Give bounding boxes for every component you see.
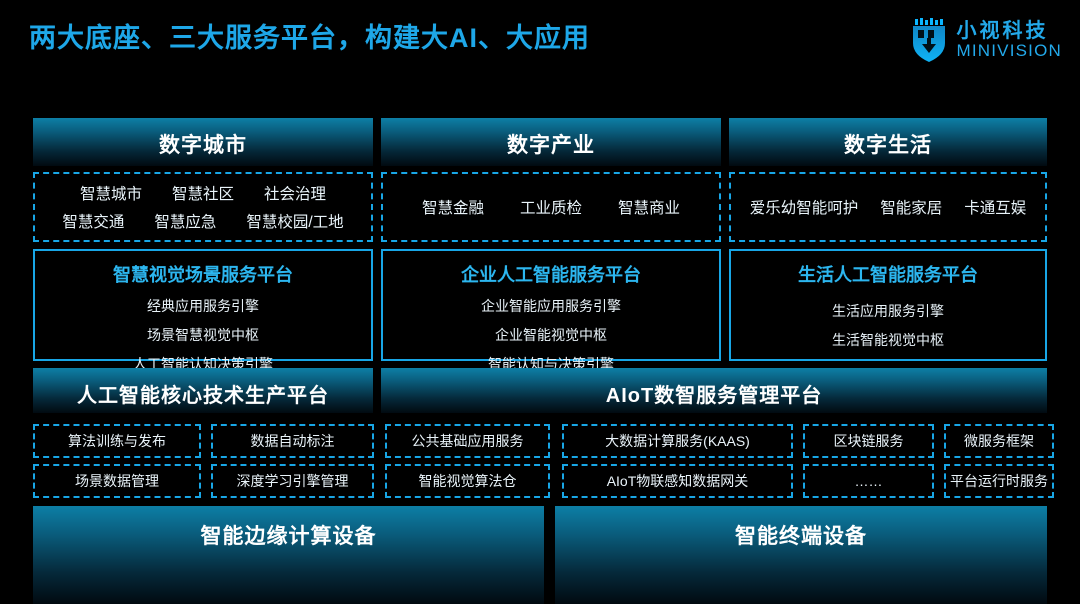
brand-name-en: MINIVISION: [956, 42, 1062, 60]
chip-blockchain-service[interactable]: 区块链服务: [803, 424, 934, 458]
tag-item[interactable]: 智能家居: [880, 196, 942, 218]
platform-item: 生活智能视觉中枢: [731, 330, 1045, 350]
chip-algo-training[interactable]: 算法训练与发布: [33, 424, 201, 458]
tag-item[interactable]: 智慧金融: [422, 196, 484, 218]
platform-item: 场景智慧视觉中枢: [35, 325, 371, 345]
tag-item[interactable]: 智慧社区: [172, 182, 234, 204]
tag-item[interactable]: 社会治理: [264, 182, 326, 204]
tag-group-digital-city: 智慧城市 智慧社区 社会治理 智慧交通 智慧应急 智慧校园/工地: [33, 172, 373, 242]
brand-text: 小视科技 MINIVISION: [956, 21, 1062, 60]
chip-microservice-framework[interactable]: 微服务框架: [944, 424, 1054, 458]
device-card-edge-computing[interactable]: 智能边缘计算设备: [33, 506, 544, 604]
tech-platform-header-ai-core[interactable]: 人工智能核心技术生产平台: [33, 368, 373, 413]
tag-row: 智慧城市 智慧社区 社会治理: [80, 182, 326, 204]
platform-title: 智慧视觉场景服务平台: [35, 261, 371, 287]
chip-deep-learning-engine-management[interactable]: 深度学习引擎管理: [211, 464, 374, 498]
platform-item: 生活应用服务引擎: [731, 301, 1045, 321]
chip-public-basic-service[interactable]: 公共基础应用服务: [385, 424, 550, 458]
platform-item: 经典应用服务引擎: [35, 296, 371, 316]
tag-item[interactable]: 爱乐幼智能呵护: [750, 196, 859, 218]
platform-item: 企业智能视觉中枢: [383, 325, 719, 345]
chip-ellipsis[interactable]: ……: [803, 464, 934, 498]
tech-platform-label: 人工智能核心技术生产平台: [77, 368, 329, 408]
tag-row: 智慧金融 工业质检 智慧商业: [422, 196, 680, 218]
platform-item: 企业智能应用服务引擎: [383, 296, 719, 316]
tag-item[interactable]: 智慧城市: [80, 182, 142, 204]
column-header-digital-industry[interactable]: 数字产业: [381, 118, 721, 166]
tag-group-digital-industry: 智慧金融 工业质检 智慧商业: [381, 172, 721, 242]
tag-item[interactable]: 智慧应急: [154, 210, 216, 232]
platform-card-life-ai[interactable]: 生活人工智能服务平台 生活应用服务引擎 生活智能视觉中枢: [729, 249, 1047, 361]
page-title: 两大底座、三大服务平台，构建大AI、大应用: [29, 16, 590, 55]
tag-item[interactable]: 工业质检: [520, 196, 582, 218]
shield-logo-icon: [912, 17, 946, 63]
brand-logo: 小视科技 MINIVISION: [912, 14, 1062, 66]
platform-card-smart-vision[interactable]: 智慧视觉场景服务平台 经典应用服务引擎 场景智慧视觉中枢 人工智能认知决策引擎: [33, 249, 373, 361]
platform-title: 企业人工智能服务平台: [383, 261, 719, 287]
tag-row: 爱乐幼智能呵护 智能家居 卡通互娱: [750, 196, 1027, 218]
chip-auto-labeling[interactable]: 数据自动标注: [211, 424, 374, 458]
chip-scene-data-management[interactable]: 场景数据管理: [33, 464, 201, 498]
device-card-label: 智能终端设备: [735, 506, 867, 550]
tag-item[interactable]: 卡通互娱: [964, 196, 1026, 218]
tag-item[interactable]: 智慧交通: [62, 210, 124, 232]
chip-bigdata-kaas[interactable]: 大数据计算服务(KAAS): [562, 424, 793, 458]
page-header: 两大底座、三大服务平台，构建大AI、大应用 小视科技 MINIVISION: [0, 0, 1080, 90]
tag-group-digital-life: 爱乐幼智能呵护 智能家居 卡通互娱: [729, 172, 1047, 242]
tech-platform-label: AIoT数智服务管理平台: [606, 368, 822, 408]
column-header-digital-life[interactable]: 数字生活: [729, 118, 1047, 166]
tech-platform-header-aiot[interactable]: AIoT数智服务管理平台: [381, 368, 1047, 413]
platform-card-enterprise-ai[interactable]: 企业人工智能服务平台 企业智能应用服务引擎 企业智能视觉中枢 智能认知与决策引擎: [381, 249, 721, 361]
platform-title: 生活人工智能服务平台: [731, 261, 1045, 287]
tag-item[interactable]: 智慧校园/工地: [246, 210, 343, 232]
column-header-label: 数字产业: [507, 118, 595, 159]
device-card-smart-terminal[interactable]: 智能终端设备: [555, 506, 1047, 604]
column-header-digital-city[interactable]: 数字城市: [33, 118, 373, 166]
chip-aiot-data-gateway[interactable]: AIoT物联感知数据网关: [562, 464, 793, 498]
tag-row: 智慧交通 智慧应急 智慧校园/工地: [62, 210, 343, 232]
brand-name-cn: 小视科技: [956, 21, 1062, 42]
chip-smart-vision-algorithm-repo[interactable]: 智能视觉算法仓: [385, 464, 550, 498]
column-header-label: 数字城市: [159, 118, 247, 159]
device-card-label: 智能边缘计算设备: [201, 506, 377, 550]
tag-item[interactable]: 智慧商业: [618, 196, 680, 218]
column-header-label: 数字生活: [844, 118, 932, 159]
chip-platform-runtime-service[interactable]: 平台运行时服务: [944, 464, 1054, 498]
